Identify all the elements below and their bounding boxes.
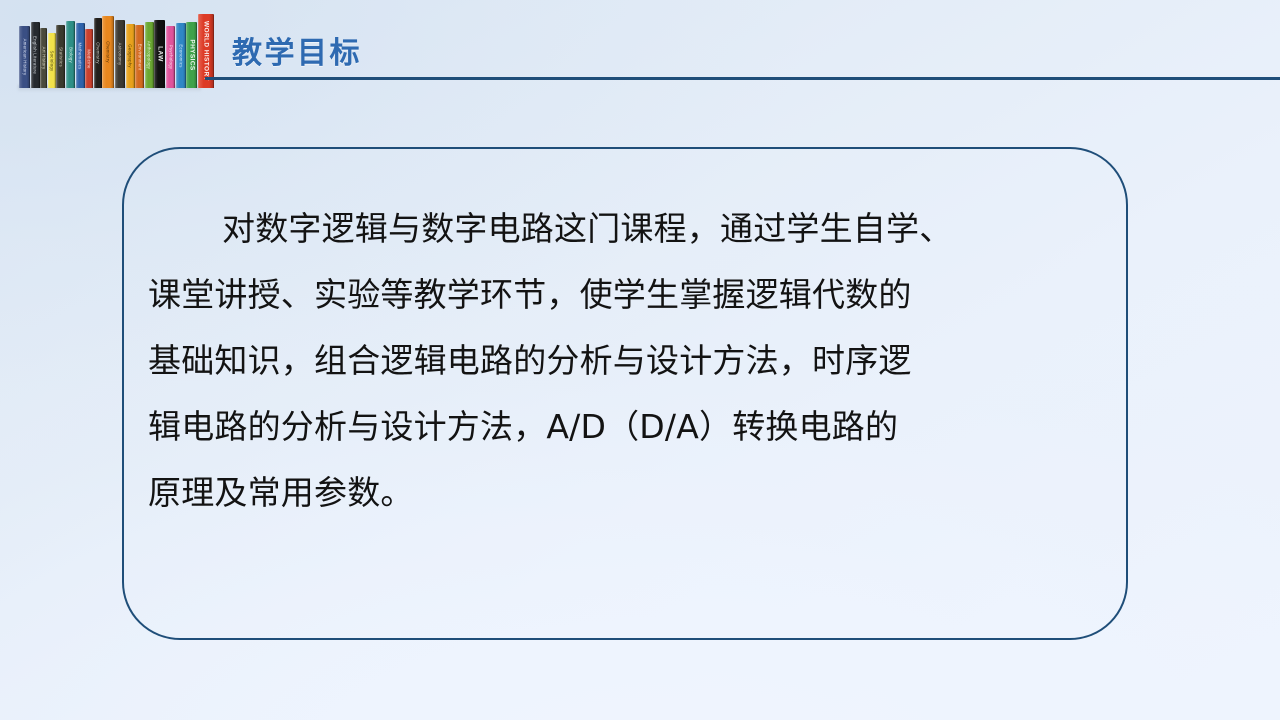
book-spine-label: WORLD HISTORY xyxy=(202,21,209,81)
book-spine-label: Psychology xyxy=(168,45,173,69)
book-spine-label: LAW xyxy=(156,46,163,62)
book-spine-label: Economics xyxy=(178,44,183,67)
book-spine: LAW xyxy=(154,20,165,88)
book-spine: Statistics xyxy=(56,25,65,88)
paragraph-line: 基础知识，组合逻辑电路的分析与设计方法，时序逻 xyxy=(148,328,1108,394)
book-spine-label: Anthropology xyxy=(147,41,152,69)
book-spine-label: PHYSICS xyxy=(188,39,195,70)
book-spine: Psychology xyxy=(166,26,175,88)
book-spine-label: American History xyxy=(22,39,27,76)
book-spine-label: Astronomy xyxy=(118,43,123,66)
paragraph-line: 辑电路的分析与设计方法，A/D（D/A）转换电路的 xyxy=(148,394,1108,460)
book-spine-label: Statistics xyxy=(58,47,63,67)
slide-header: American HistoryEnglish LiteratureArt Hi… xyxy=(0,0,1280,100)
book-spine-label: Mathematics xyxy=(78,42,83,69)
book-spine-label: Chemistry xyxy=(95,42,100,64)
book-spine-label: Sociology xyxy=(49,50,54,71)
book-spine-label: Environment xyxy=(137,43,142,70)
book-spine: Environment xyxy=(135,25,144,88)
paragraph-line: 原理及常用参数。 xyxy=(148,460,1108,526)
header-divider-line xyxy=(205,77,1280,80)
book-spine: English Literature xyxy=(31,22,40,88)
paragraph-line: 对数字逻辑与数字电路这门课程，通过学生自学、 xyxy=(148,196,1108,262)
book-spine: Chemistry xyxy=(94,18,102,88)
book-spine-label: Biology xyxy=(68,47,73,63)
book-spine: Chemistry xyxy=(102,16,114,88)
book-spine: American History xyxy=(19,26,30,88)
book-spine: Art History xyxy=(40,28,47,88)
book-spine: Anthropology xyxy=(145,22,154,88)
book-spine: Biology xyxy=(66,21,75,88)
book-spine: Medicine xyxy=(85,29,93,88)
objective-paragraph: 对数字逻辑与数字电路这门课程，通过学生自学、课堂讲授、实验等教学环节，使学生掌握… xyxy=(148,196,1108,526)
book-spine: Astronomy xyxy=(115,20,125,88)
book-spine-label: Chemistry xyxy=(106,41,111,63)
book-spine-label: Medicine xyxy=(87,49,92,68)
book-spine: Geography xyxy=(126,24,135,88)
book-spine-label: English Literature xyxy=(33,36,38,74)
book-spine-label: Geography xyxy=(128,44,133,68)
paragraph-line: 课堂讲授、实验等教学环节，使学生掌握逻辑代数的 xyxy=(148,262,1108,328)
book-spine-label: Art History xyxy=(41,47,46,70)
book-spine: Economics xyxy=(176,23,186,88)
book-spine: Mathematics xyxy=(76,23,85,88)
book-spine: Sociology xyxy=(48,33,56,88)
presentation-slide: American HistoryEnglish LiteratureArt Hi… xyxy=(0,0,1280,720)
book-spine: PHYSICS xyxy=(186,22,197,88)
page-title: 教学目标 xyxy=(232,28,362,72)
book-spines-image: American HistoryEnglish LiteratureArt Hi… xyxy=(18,14,201,92)
